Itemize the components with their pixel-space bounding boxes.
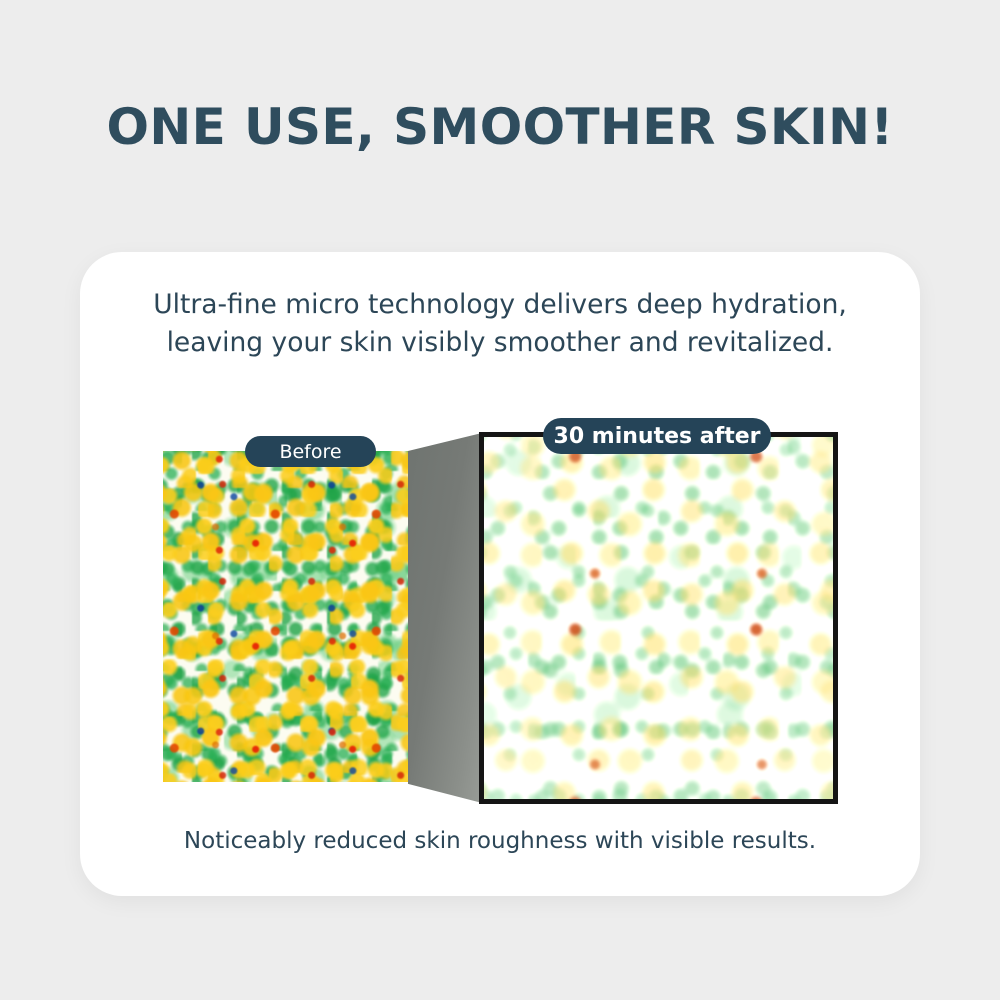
content-card: Ultra-fine micro technology delivers dee… [80,252,920,896]
before-after-comparison: Before 30 minutes after [80,252,920,896]
before-label-badge: Before [245,436,376,467]
perspective-side-panel [408,432,486,804]
after-texture [484,437,833,799]
before-image [163,451,425,782]
before-texture [163,451,425,782]
page-title: ONE USE, SMOOTHER SKIN! [0,98,1000,156]
after-image-frame [479,432,838,804]
after-label-badge: 30 minutes after [543,418,771,454]
figure-caption: Noticeably reduced skin roughness with v… [80,828,920,854]
after-image [484,437,833,799]
